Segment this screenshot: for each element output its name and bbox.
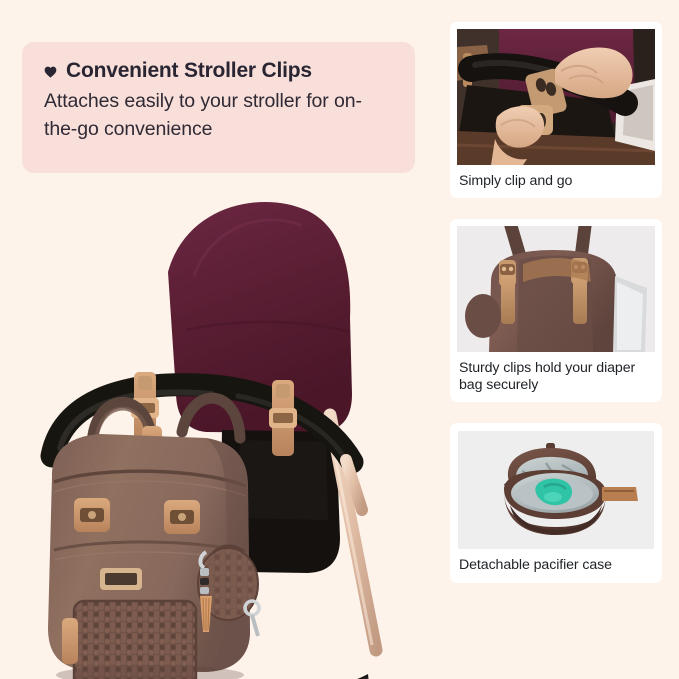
case-side-tab xyxy=(602,487,638,501)
feature-card-sturdy-clips[interactable]: Sturdy clips hold your diaper bag secure… xyxy=(450,219,662,402)
feature-card-caption: Detachable pacifier case xyxy=(450,549,662,582)
feature-card-pacifier-case[interactable]: Detachable pacifier case xyxy=(450,423,662,582)
stroller-clip-right xyxy=(269,380,297,456)
feature-badge-title-row: Convenient Stroller Clips xyxy=(44,59,393,82)
feature-card-caption: Sturdy clips hold your diaper bag secure… xyxy=(450,352,662,402)
feature-badge: Convenient Stroller Clips Attaches easil… xyxy=(22,42,415,173)
backpack-rear-clips-photo xyxy=(457,226,655,352)
clip-strap-left xyxy=(499,260,516,324)
open-pacifier-case-photo xyxy=(458,431,654,549)
feature-badge-title: Convenient Stroller Clips xyxy=(66,59,312,82)
feature-badge-description: Attaches easily to your stroller for on-… xyxy=(44,88,393,143)
hand-clipping-bag-to-stroller-handle-photo xyxy=(457,29,655,165)
stroller-with-diaper-bag-illustration xyxy=(0,180,440,679)
card-photo-container xyxy=(450,219,662,352)
feature-card-list: Simply clip and go xyxy=(450,22,662,583)
product-feature-panel: Convenient Stroller Clips Attaches easil… xyxy=(0,0,679,679)
hero-product-image xyxy=(0,180,440,679)
feature-card-caption: Simply clip and go xyxy=(450,165,662,198)
bag-side-strap xyxy=(62,618,78,664)
feature-card-simply-clip[interactable]: Simply clip and go xyxy=(450,22,662,198)
heart-icon xyxy=(44,66,57,78)
bag-front-buckle-right xyxy=(164,500,200,534)
card-photo-container xyxy=(450,22,662,165)
card-photo-container xyxy=(450,423,662,549)
bag-front-buckle-left xyxy=(74,498,110,532)
bag-logo-plate xyxy=(100,568,142,590)
